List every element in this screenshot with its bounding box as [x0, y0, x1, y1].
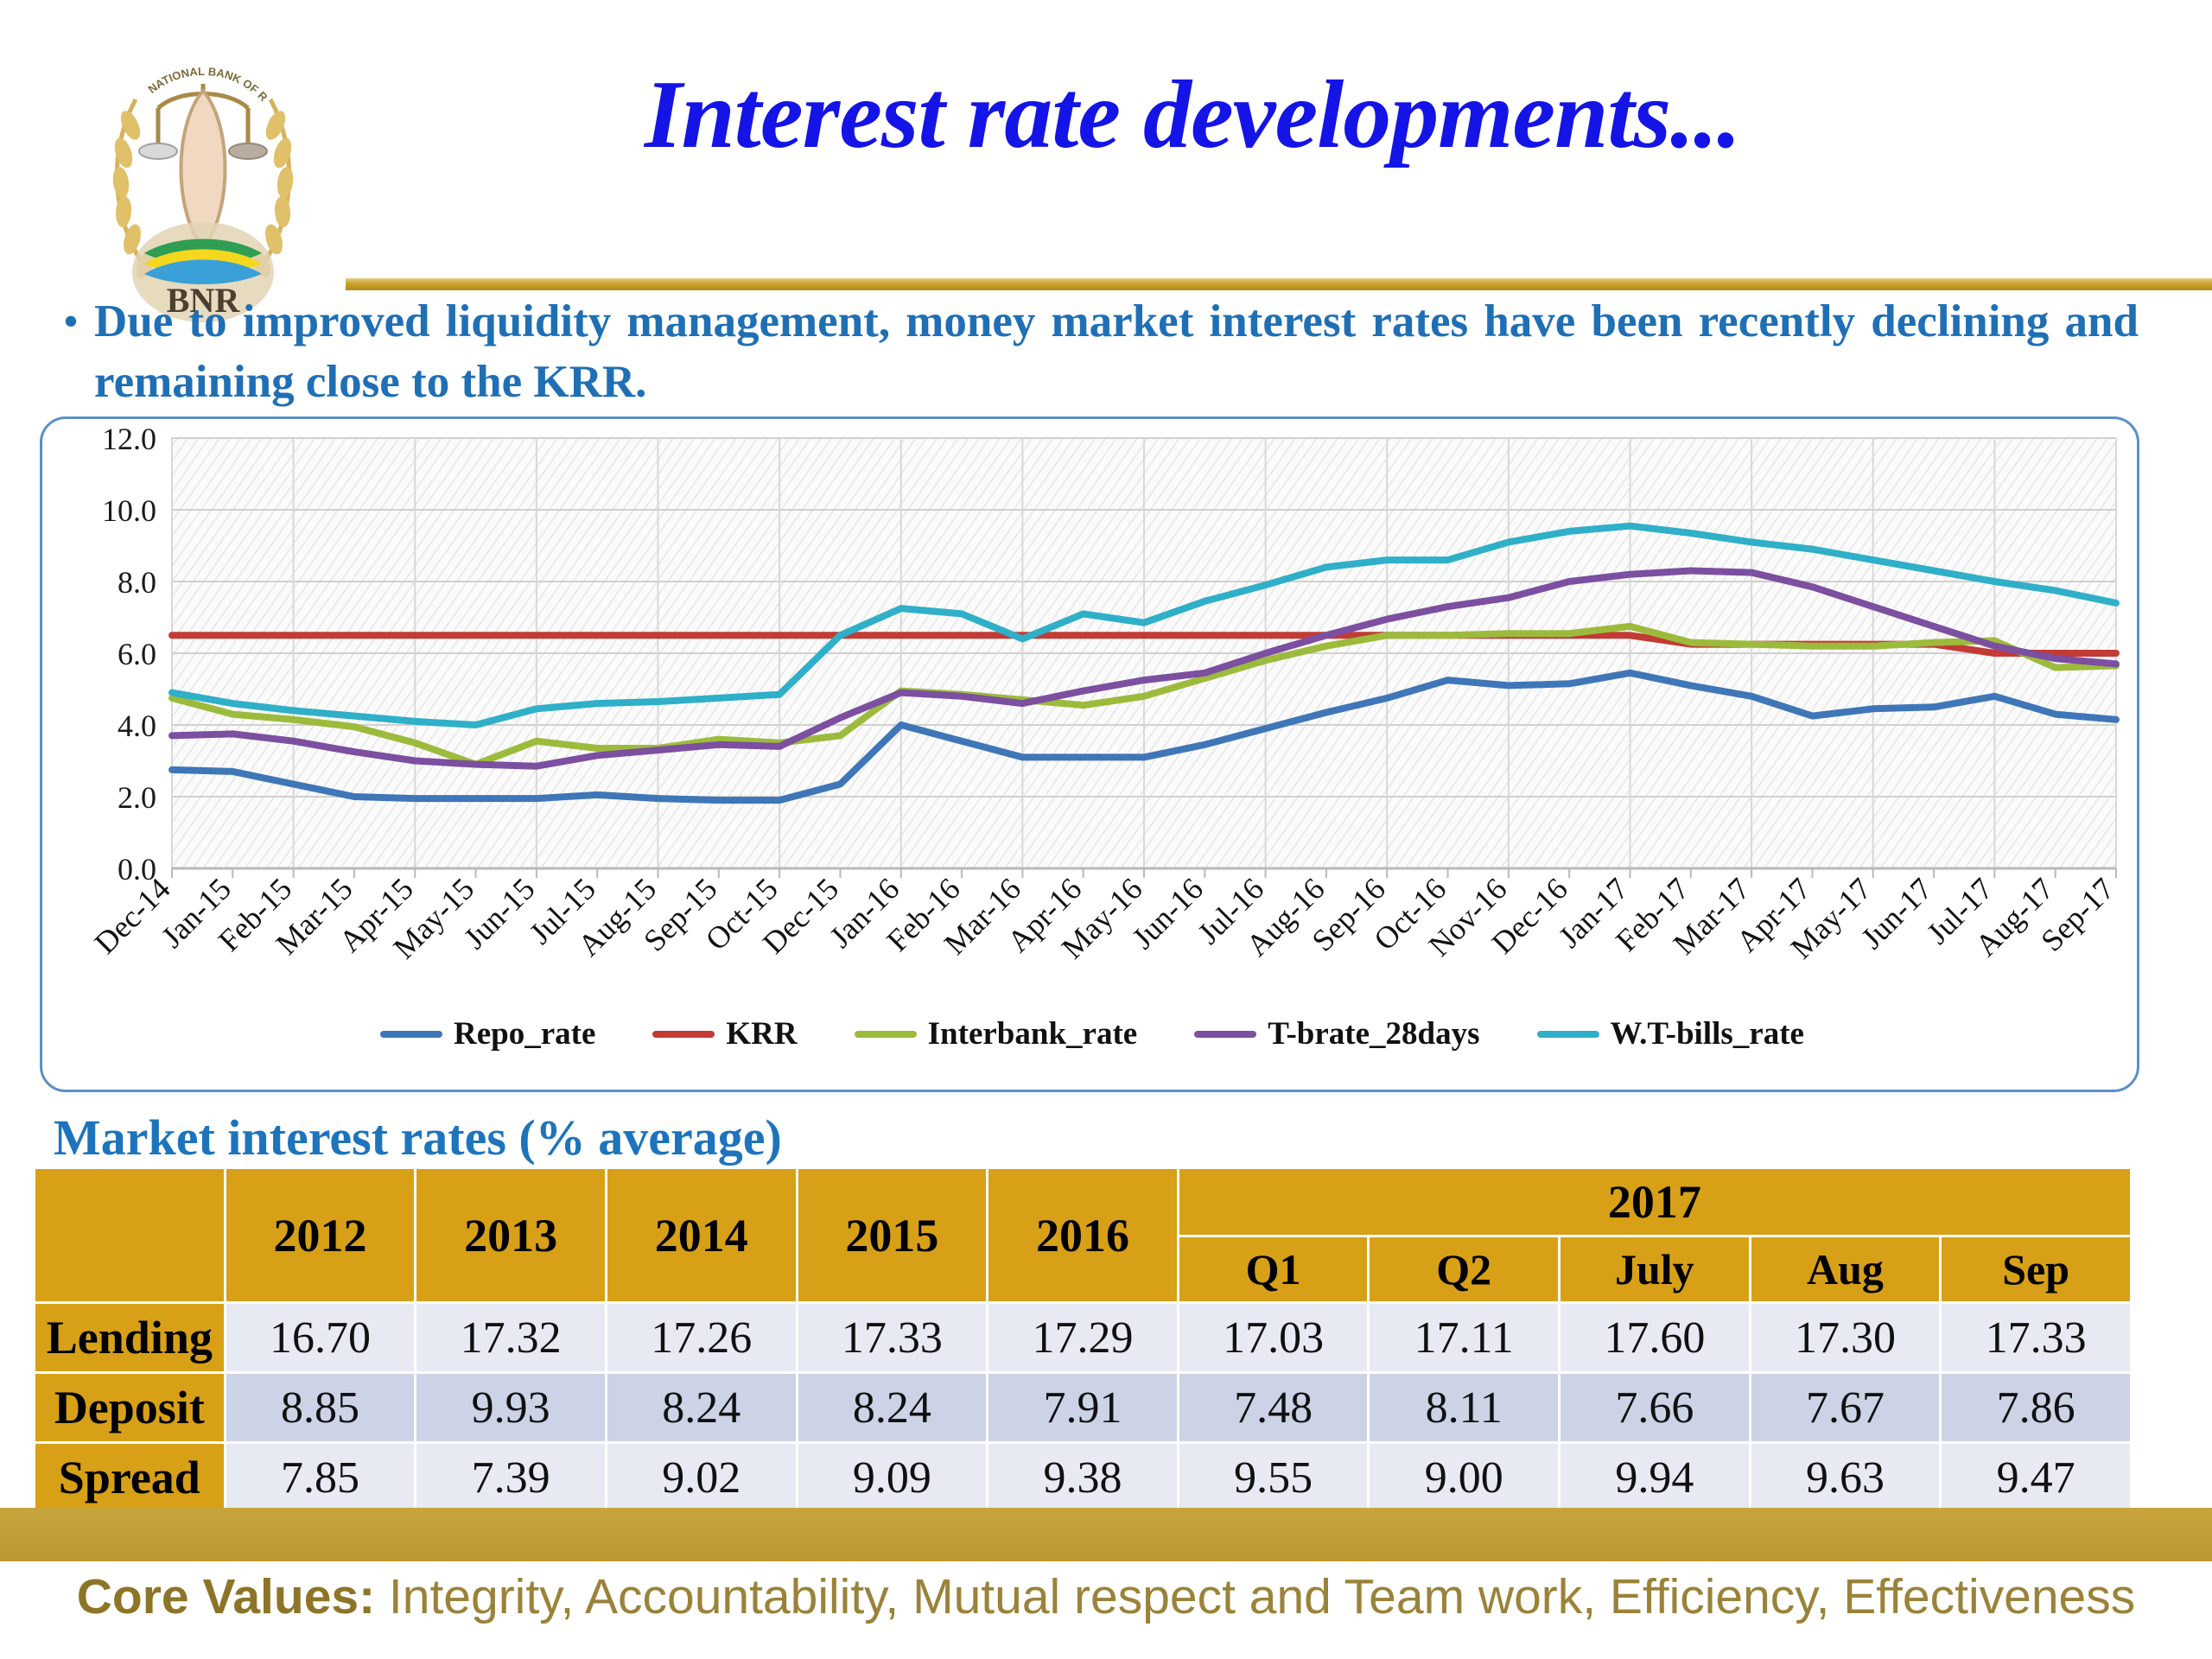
legend-label-krr: KRR: [726, 1015, 797, 1052]
cell-spread-2013: 7.39: [416, 1444, 605, 1511]
legend-item-interbank-rate[interactable]: Interbank_rate: [855, 1015, 1138, 1052]
bullet-text: Due to improved liquidity management, mo…: [94, 292, 2139, 413]
col-header-q1: Q1: [1179, 1237, 1368, 1301]
cell-lending-2017-july: 17.60: [1560, 1304, 1749, 1371]
cell-deposit-2017-q1: 7.48: [1179, 1374, 1368, 1441]
table-row: Deposit 8.85 9.93 8.24 8.24 7.91 7.48 8.…: [35, 1374, 2130, 1441]
col-header-2015: 2015: [798, 1169, 987, 1301]
col-header-q2: Q2: [1370, 1237, 1558, 1301]
chart-panel: 0.02.04.06.08.010.012.0 Dec-14Jan-15Feb-…: [40, 416, 2139, 1092]
row-label-lending: Lending: [35, 1304, 224, 1371]
cell-lending-2012: 16.70: [226, 1304, 415, 1371]
cell-spread-2016: 9.38: [988, 1444, 1177, 1511]
svg-text:10.0: 10.0: [102, 493, 156, 528]
col-header-2014: 2014: [607, 1169, 796, 1301]
cell-spread-2017-july: 9.94: [1560, 1444, 1749, 1511]
title-divider: [346, 278, 2212, 290]
bullet-marker: •: [48, 292, 94, 353]
cell-deposit-2017-sep: 7.86: [1942, 1374, 2130, 1441]
cell-deposit-2012: 8.85: [226, 1374, 415, 1441]
footer-core-values: Core Values: Integrity, Accountability, …: [0, 1568, 2212, 1625]
legend-swatch-tbrate-28days: [1194, 1031, 1256, 1038]
bullet-block: • Due to improved liquidity management, …: [48, 292, 2139, 413]
table-corner-cell: [35, 1169, 224, 1301]
col-header-2013: 2013: [416, 1169, 605, 1301]
legend-item-wtbills-rate[interactable]: W.T-bills_rate: [1537, 1015, 1804, 1052]
cell-lending-2014: 17.26: [607, 1304, 796, 1371]
cell-lending-2017-aug: 17.30: [1751, 1304, 1940, 1371]
bullet-item: • Due to improved liquidity management, …: [48, 292, 2139, 413]
cell-spread-2014: 9.02: [607, 1444, 796, 1511]
page-title: Interest rate developments...: [372, 65, 2013, 167]
legend-item-tbrate-28days[interactable]: T-brate_28days: [1194, 1015, 1479, 1052]
row-label-deposit: Deposit: [35, 1374, 224, 1441]
col-header-sep: Sep: [1942, 1237, 2130, 1301]
footer-core-values-label: Core Values:: [77, 1569, 375, 1624]
legend-swatch-interbank-rate: [855, 1031, 917, 1038]
legend-swatch-repo-rate: [380, 1031, 442, 1038]
chart-legend: Repo_rate KRR Interbank_rate T-brate_28d…: [42, 1015, 2142, 1052]
cell-spread-2017-q1: 9.55: [1179, 1444, 1368, 1511]
cell-deposit-2017-aug: 7.67: [1751, 1374, 1940, 1441]
market-interest-rates-table: 2012 2013 2014 2015 2016 2017 Q1 Q2 July…: [33, 1166, 2133, 1514]
cell-deposit-2016: 7.91: [988, 1374, 1177, 1441]
cell-spread-2017-q2: 9.00: [1370, 1444, 1558, 1511]
cell-lending-2013: 17.32: [416, 1304, 605, 1371]
legend-item-krr[interactable]: KRR: [652, 1015, 797, 1052]
col-header-july: July: [1560, 1237, 1749, 1301]
legend-label-wtbills-rate: W.T-bills_rate: [1611, 1015, 1804, 1052]
cell-spread-2017-sep: 9.47: [1942, 1444, 2130, 1511]
col-header-2012: 2012: [226, 1169, 415, 1301]
cell-deposit-2017-july: 7.66: [1560, 1374, 1749, 1441]
cell-spread-2015: 9.09: [798, 1444, 987, 1511]
cell-deposit-2017-q2: 8.11: [1370, 1374, 1558, 1441]
cell-lending-2017-sep: 17.33: [1942, 1304, 2130, 1371]
legend-swatch-wtbills-rate: [1537, 1031, 1599, 1038]
footer-gold-bar: [0, 1508, 2212, 1561]
table-header-row-top: 2012 2013 2014 2015 2016 2017: [35, 1169, 2130, 1235]
col-header-aug: Aug: [1751, 1237, 1940, 1301]
svg-text:6.0: 6.0: [118, 637, 156, 671]
table-row: Spread 7.85 7.39 9.02 9.09 9.38 9.55 9.0…: [35, 1444, 2130, 1511]
col-header-2016: 2016: [988, 1169, 1177, 1301]
slide-header: NATIONAL BANK OF RWANDA BNR Interest rat…: [0, 0, 2212, 302]
svg-text:4.0: 4.0: [118, 709, 156, 743]
legend-swatch-krr: [652, 1031, 715, 1038]
svg-text:8.0: 8.0: [118, 565, 156, 600]
svg-text:Jun-16: Jun-16: [1125, 871, 1210, 956]
cell-deposit-2014: 8.24: [607, 1374, 796, 1441]
legend-label-tbrate-28days: T-brate_28days: [1268, 1015, 1479, 1052]
col-group-header-2017: 2017: [1179, 1169, 2130, 1235]
svg-text:Jun-17: Jun-17: [1854, 871, 1939, 956]
svg-text:12.0: 12.0: [102, 422, 156, 456]
svg-text:Jun-15: Jun-15: [457, 871, 542, 956]
legend-item-repo-rate[interactable]: Repo_rate: [380, 1015, 595, 1052]
svg-text:2.0: 2.0: [118, 780, 156, 815]
cell-lending-2016: 17.29: [988, 1304, 1177, 1371]
cell-spread-2017-aug: 9.63: [1751, 1444, 1940, 1511]
legend-label-interbank-rate: Interbank_rate: [928, 1015, 1138, 1052]
table-heading: Market interest rates (% average): [54, 1109, 782, 1166]
cell-deposit-2013: 9.93: [416, 1374, 605, 1441]
svg-text:NATIONAL BANK OF RWANDA: NATIONAL BANK OF RWANDA: [82, 22, 270, 105]
interest-rate-line-chart: 0.02.04.06.08.010.012.0 Dec-14Jan-15Feb-…: [42, 419, 2137, 1015]
legend-label-repo-rate: Repo_rate: [454, 1015, 595, 1052]
bnr-logo: NATIONAL BANK OF RWANDA BNR: [82, 22, 324, 324]
cell-deposit-2015: 8.24: [798, 1374, 987, 1441]
cell-lending-2017-q1: 17.03: [1179, 1304, 1368, 1371]
row-label-spread: Spread: [35, 1444, 224, 1511]
cell-spread-2012: 7.85: [226, 1444, 415, 1511]
cell-lending-2015: 17.33: [798, 1304, 987, 1371]
footer-core-values-list: Integrity, Accountability, Mutual respec…: [375, 1569, 2135, 1624]
cell-lending-2017-q2: 17.11: [1370, 1304, 1558, 1371]
table-row: Lending 16.70 17.32 17.26 17.33 17.29 17…: [35, 1304, 2130, 1371]
